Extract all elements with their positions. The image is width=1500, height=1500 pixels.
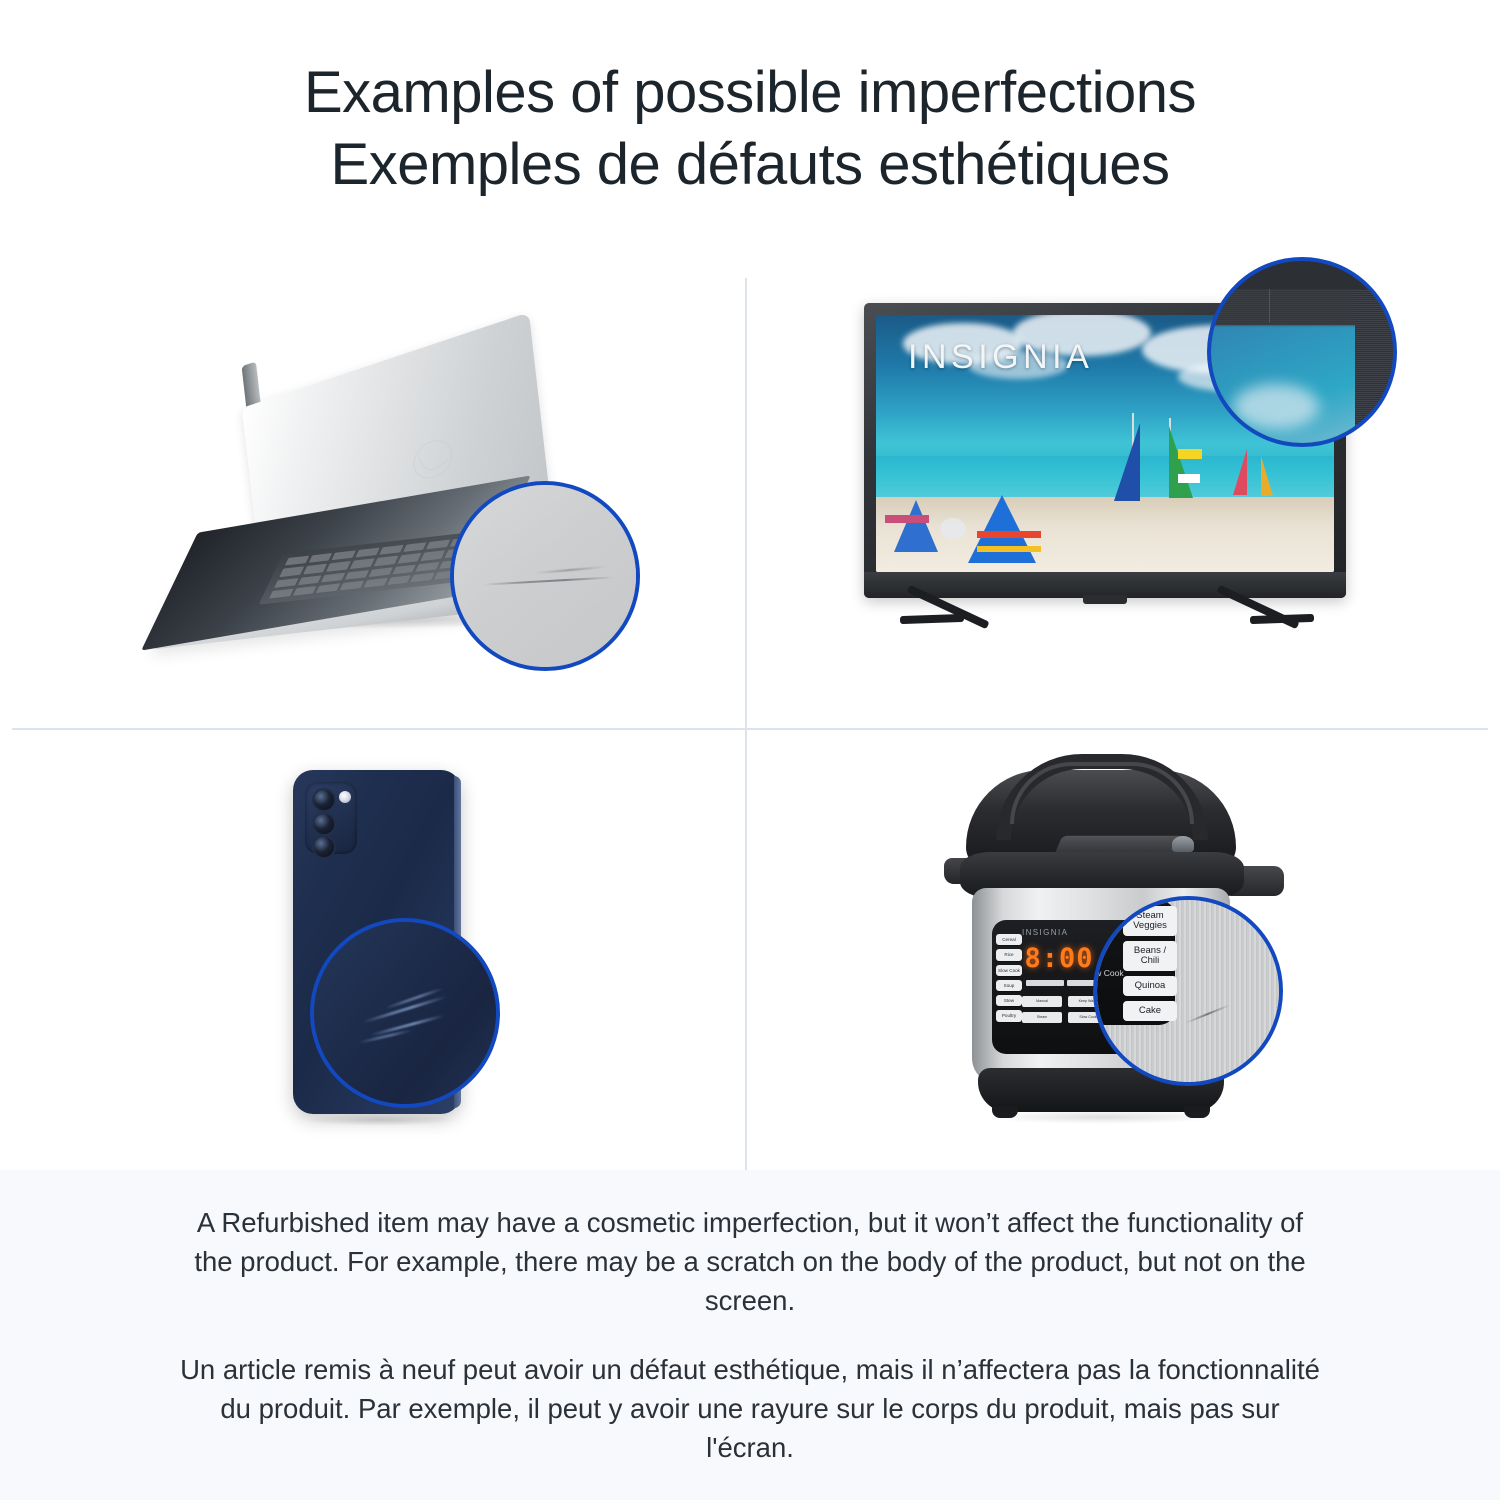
phone-scratch-magnifier [310,918,500,1108]
pressure-cooker-illustration: INSIGNIA 8:00 Manual Keep Warm Delay Ste… [938,748,1288,1138]
cooker-magnified-buttons: Steam Veggies Beans / Chili Quinoa Cake [1123,906,1177,1021]
cell-laptop [0,258,745,728]
cooker-magnified-left-labels: Delay Slow Cook [1093,946,1125,978]
cooker-button[interactable]: Poultry [996,1010,1022,1021]
cell-television: INSIGNIA [746,258,1500,728]
cell-smartphone [0,730,745,1170]
tv-logo-badge [1083,595,1127,604]
television-illustration: INSIGNIA [864,303,1364,683]
phone-camera-module [305,782,357,854]
camera-lens-icon [312,835,336,859]
camera-lens-icon [312,788,336,812]
page-title-en: Examples of possible imperfections [304,57,1196,129]
tv-bottom-bezel [864,572,1346,598]
tv-leg-left-foot [900,614,964,624]
refurbished-imperfections-infographic: Examples of possible imperfections Exemp… [0,0,1500,1500]
cooker-scratch-magnifier: Steam Veggies Beans / Chili Quinoa Cake … [1093,896,1283,1086]
laptop-illustration [150,353,620,653]
cooker-button[interactable]: Stew [996,995,1022,1006]
camera-flash-icon [339,791,351,803]
magnified-button-beans-chili: Beans / Chili [1123,941,1177,971]
phone-shadow [305,1114,455,1126]
examples-grid: INSIGNIA [0,258,1500,1170]
magnified-button-quinoa: Quinoa [1123,976,1177,996]
phone-magnified-surface [314,922,496,1104]
cell-pressure-cooker: INSIGNIA 8:00 Manual Keep Warm Delay Ste… [746,730,1500,1170]
cooker-foot [1184,1106,1210,1118]
footer-paragraph-en: A Refurbished item may have a cosmetic i… [180,1203,1320,1320]
cooker-button[interactable]: Rice [996,949,1022,960]
magnified-button-cake: Cake [1123,1001,1177,1021]
cooker-button[interactable]: Slow Cook [996,965,1022,976]
cooker-brand-label: INSIGNIA [1022,928,1068,937]
laptop-logo-icon [406,432,458,486]
tv-leg-right-foot [1250,614,1314,624]
cooker-left-button-column[interactable]: Cereal Rice Slow Cook Soup Stew Poultry [996,934,1022,1022]
cooker-foot [992,1106,1018,1118]
smartphone-illustration [275,770,475,1130]
tv-corner-magnifier [1207,257,1397,447]
tv-brand-logo: INSIGNIA [908,338,1093,377]
page-title-fr: Exemples de défauts esthétiques [331,129,1170,201]
footer-paragraph-fr: Un article remis à neuf peut avoir un dé… [180,1350,1320,1467]
cooker-button[interactable]: Cereal [996,934,1022,945]
cooker-mini-button[interactable]: Manual [1022,996,1062,1007]
camera-lens-icon [312,812,336,836]
tv-magnified-right-bezel [1355,289,1397,447]
cooker-button[interactable]: Soup [996,980,1022,991]
tv-magnified-bezel-seam [1269,289,1270,323]
tv-magnified-screen [1207,325,1359,447]
laptop-scratch-magnifier [450,481,640,671]
cooker-led-display: 8:00 [1022,944,1096,972]
page-footer: A Refurbished item may have a cosmetic i… [0,1170,1500,1500]
page-header: Examples of possible imperfections Exemp… [0,0,1500,258]
magnified-label-slow-cook: Slow Cook [1093,968,1125,978]
cooker-mini-button[interactable]: Steam [1022,1012,1062,1023]
magnified-label-delay: Delay [1093,946,1125,956]
magnified-button-steam-veggies: Steam Veggies [1123,906,1177,936]
